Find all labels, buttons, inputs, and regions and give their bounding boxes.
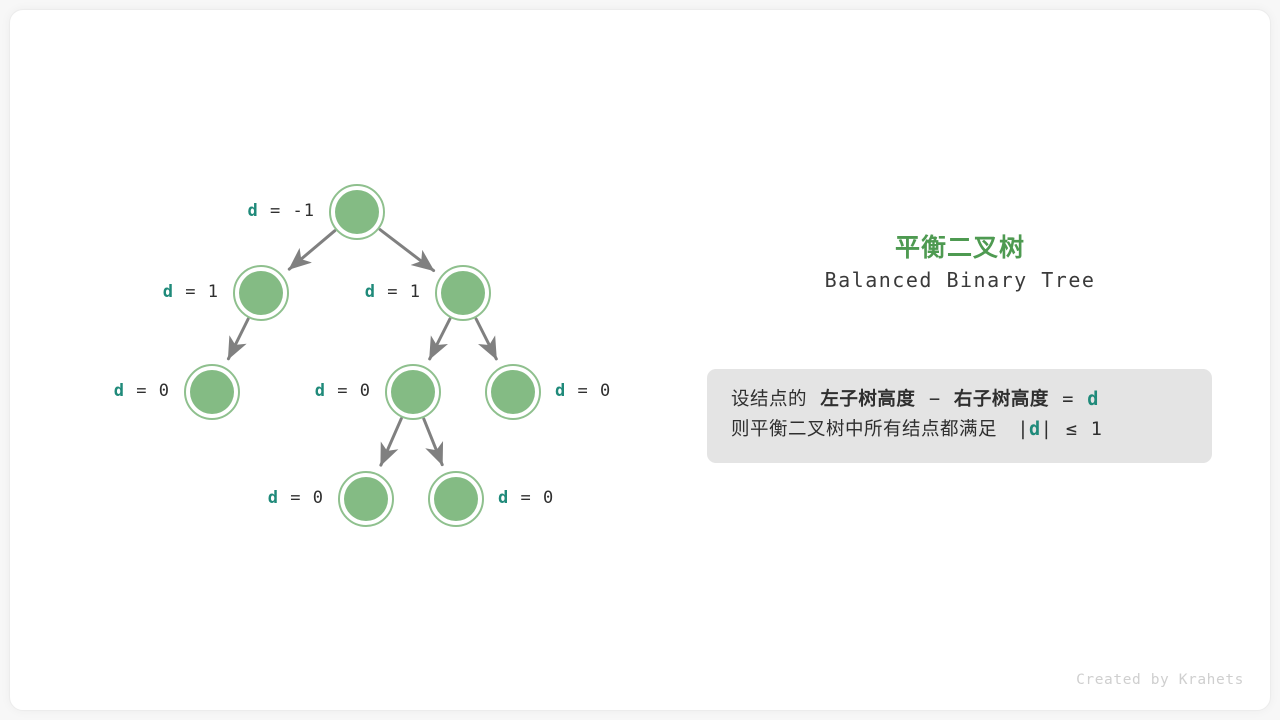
label-value: 0 bbox=[159, 381, 170, 401]
panel-title: 平衡二叉树 bbox=[690, 228, 1230, 264]
label-variable: d bbox=[555, 381, 566, 401]
tree-edge bbox=[430, 319, 450, 359]
tree-node[interactable] bbox=[435, 265, 491, 321]
definition-box: 设结点的 左子树高度 − 右子树高度 = d 则平衡二叉树中所有结点都满足 |d… bbox=[707, 369, 1212, 463]
tree-edge bbox=[381, 419, 401, 466]
tree-node[interactable] bbox=[233, 265, 289, 321]
tree-edges bbox=[10, 10, 690, 711]
node-balance-label: d = 0 bbox=[114, 383, 170, 400]
variable-d-line-1: d bbox=[1087, 389, 1099, 410]
label-value: 0 bbox=[543, 488, 554, 508]
info-panel: 平衡二叉树 Balanced Binary Tree 设结点的 左子树高度 − … bbox=[690, 10, 1271, 711]
definition-prefix-1: 设结点的 bbox=[731, 389, 807, 410]
definition-line-1: 设结点的 左子树高度 − 右子树高度 = d bbox=[707, 385, 1212, 415]
tree-node[interactable] bbox=[485, 364, 541, 420]
tree-edge bbox=[476, 319, 496, 359]
node-balance-label: d = 1 bbox=[163, 284, 219, 301]
node-balance-label: d = 0 bbox=[315, 383, 371, 400]
tree-node[interactable] bbox=[329, 184, 385, 240]
tree-node[interactable] bbox=[338, 471, 394, 527]
label-value: 0 bbox=[360, 381, 371, 401]
watermark-credit: Created by Krahets bbox=[1076, 672, 1244, 688]
label-equals: = bbox=[174, 282, 208, 302]
label-equals: = bbox=[279, 488, 313, 508]
label-value: -1 bbox=[293, 201, 315, 221]
abs-bar-open: | bbox=[1017, 419, 1029, 440]
equals-operator: = bbox=[1062, 389, 1074, 410]
panel-subtitle: Balanced Binary Tree bbox=[690, 268, 1230, 292]
definition-prefix-2: 则平衡二叉树中所有结点都满足 bbox=[731, 419, 997, 440]
label-equals: = bbox=[125, 381, 159, 401]
label-variable: d bbox=[114, 381, 125, 401]
label-variable: d bbox=[268, 488, 279, 508]
tree-node[interactable] bbox=[385, 364, 441, 420]
label-variable: d bbox=[163, 282, 174, 302]
variable-d-line-2: d bbox=[1029, 419, 1041, 440]
tree-edge bbox=[380, 230, 434, 271]
content-card: d = -1d = 1d = 1d = 0d = 0d = 0d = 0d = … bbox=[9, 9, 1271, 711]
label-variable: d bbox=[365, 282, 376, 302]
label-equals: = bbox=[566, 381, 600, 401]
label-equals: = bbox=[509, 488, 543, 508]
node-balance-label: d = 0 bbox=[555, 383, 611, 400]
node-balance-label: d = -1 bbox=[248, 203, 315, 220]
label-value: 1 bbox=[410, 282, 421, 302]
label-variable: d bbox=[498, 488, 509, 508]
label-equals: = bbox=[326, 381, 360, 401]
label-value: 0 bbox=[313, 488, 324, 508]
term-left-subtree-height: 左子树高度 bbox=[820, 389, 915, 410]
label-equals: = bbox=[376, 282, 410, 302]
node-balance-label: d = 0 bbox=[268, 490, 324, 507]
page-root: d = -1d = 1d = 1d = 0d = 0d = 0d = 0d = … bbox=[0, 0, 1280, 720]
abs-bar-close: | bbox=[1041, 419, 1053, 440]
binary-tree-diagram: d = -1d = 1d = 1d = 0d = 0d = 0d = 0d = … bbox=[10, 10, 690, 711]
definition-line-2: 则平衡二叉树中所有结点都满足 |d| ≤ 1 bbox=[707, 415, 1212, 445]
label-value: 1 bbox=[208, 282, 219, 302]
tree-edge bbox=[424, 419, 442, 465]
bound-value: 1 bbox=[1091, 419, 1103, 440]
tree-node[interactable] bbox=[184, 364, 240, 420]
term-right-subtree-height: 右子树高度 bbox=[954, 389, 1049, 410]
less-equal-operator: ≤ bbox=[1066, 419, 1078, 440]
label-variable: d bbox=[315, 381, 326, 401]
node-balance-label: d = 1 bbox=[365, 284, 421, 301]
node-balance-label: d = 0 bbox=[498, 490, 554, 507]
minus-operator: − bbox=[929, 389, 941, 410]
tree-edge bbox=[289, 231, 335, 269]
label-value: 0 bbox=[600, 381, 611, 401]
tree-node[interactable] bbox=[428, 471, 484, 527]
tree-edge bbox=[228, 319, 248, 359]
label-equals: = bbox=[259, 201, 293, 221]
label-variable: d bbox=[248, 201, 259, 221]
